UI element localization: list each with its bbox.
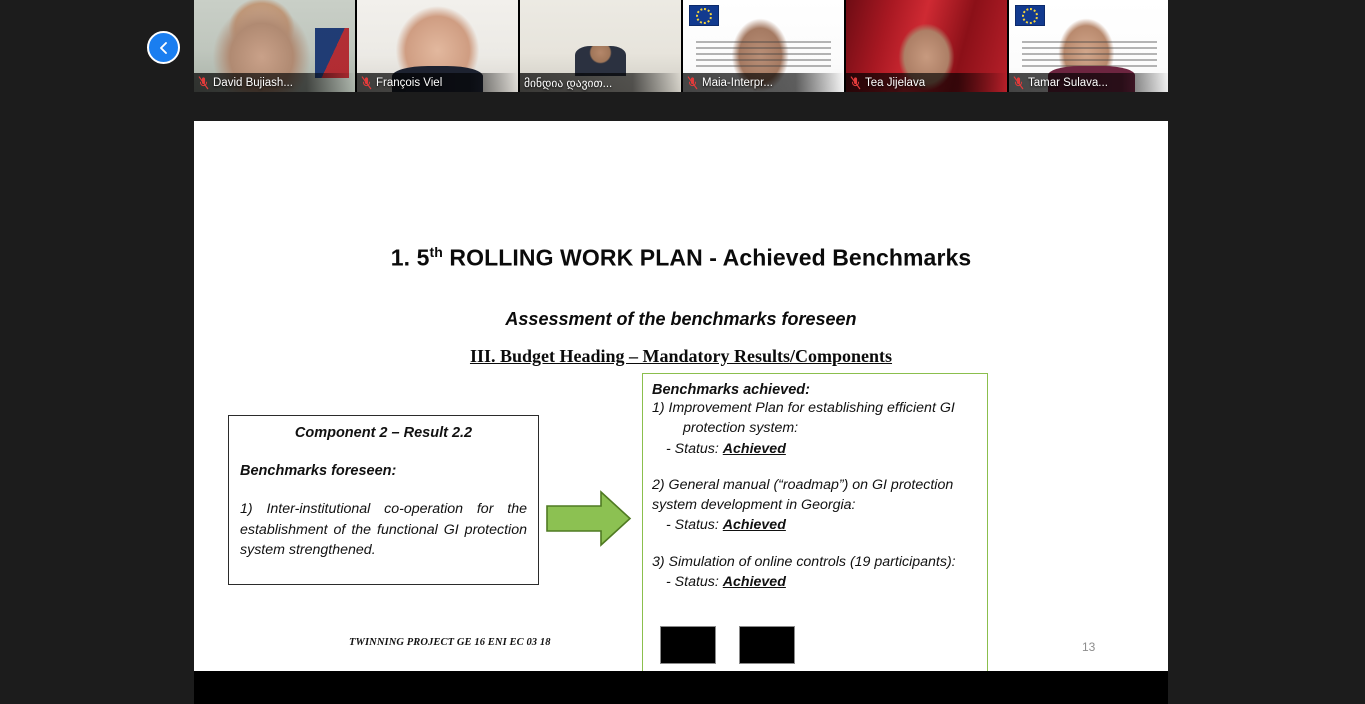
participant-name: David Bujiash... (213, 77, 293, 89)
participant-name: Tea Jijelava (865, 77, 925, 89)
participant-thumbnail-strip[interactable]: David Bujiash... François Viel მინდია და… (194, 0, 1168, 92)
slide-section-heading: III. Budget Heading – Mandatory Results/… (194, 346, 1168, 367)
eu-flag-icon (689, 5, 719, 26)
slide-title-prefix: 1. 5 (391, 245, 430, 271)
participant-name: Tamar Sulava... (1028, 77, 1108, 89)
microphone-muted-icon (198, 76, 209, 90)
microphone-muted-icon (687, 76, 698, 90)
participant-name: მინდია დავით... (524, 76, 612, 90)
component-result-title: Component 2 – Result 2.2 (240, 425, 527, 441)
eu-flag-icon (1015, 5, 1045, 26)
participant-name-bar: François Viel (357, 73, 518, 92)
achieved-item-status: - Status: Achieved (652, 515, 979, 535)
participant-name-bar: Tamar Sulava... (1009, 73, 1168, 92)
participant-thumbnail[interactable]: Tamar Sulava... (1009, 0, 1168, 92)
slide-background-text (1022, 41, 1157, 67)
participant-name-bar: მინდია დავით... (520, 73, 681, 92)
spacer (652, 459, 979, 475)
benchmarks-achieved-label: Benchmarks achieved: (652, 382, 979, 398)
achieved-item-status: - Status: Achieved (652, 439, 979, 459)
slide-section-heading-text: III. Budget Heading – Mandatory Results/… (470, 346, 892, 366)
app-root: David Bujiash... François Viel მინდია და… (0, 0, 1365, 704)
participant-thumbnail[interactable]: მინდია დავით... (520, 0, 681, 92)
microphone-muted-icon (1013, 76, 1024, 90)
participant-thumbnail[interactable]: Maia-Interpr... (683, 0, 844, 92)
participant-name-bar: Maia-Interpr... (683, 73, 844, 92)
back-button[interactable] (147, 31, 180, 64)
status-badge: Achieved (723, 517, 786, 533)
status-label: - Status: (666, 517, 723, 533)
participant-thumbnail[interactable]: David Bujiash... (194, 0, 355, 92)
status-label: - Status: (666, 441, 723, 457)
chevron-left-icon (157, 41, 171, 55)
slide-title-rest: ROLLING WORK PLAN - Achieved Benchmarks (443, 245, 971, 271)
shared-slide[interactable]: 1. 5th ROLLING WORK PLAN - Achieved Benc… (194, 121, 1168, 671)
achieved-item-status: - Status: Achieved (652, 572, 979, 592)
participant-name: Maia-Interpr... (702, 77, 773, 89)
achieved-item-text: 3) Simulation of online controls (19 par… (652, 552, 979, 572)
slide-title: 1. 5th ROLLING WORK PLAN - Achieved Benc… (194, 244, 1168, 272)
achieved-item-text: 2) General manual (“roadmap”) on GI prot… (652, 475, 979, 516)
participant-name: François Viel (376, 77, 442, 89)
status-label: - Status: (666, 574, 723, 590)
slide-title-superscript: th (429, 244, 442, 260)
slide-footer-note: TWINNING PROJECT GE 16 ENI EC 03 18 (349, 637, 551, 648)
participant-thumbnail[interactable]: Tea Jijelava (846, 0, 1007, 92)
slide-subtitle: Assessment of the benchmarks foreseen (194, 309, 1168, 330)
microphone-muted-icon (850, 76, 861, 90)
benchmarks-foreseen-box: Component 2 – Result 2.2 Benchmarks fore… (228, 415, 539, 585)
slide-page-number: 13 (1082, 640, 1095, 654)
benchmarks-foreseen-text: 1) Inter-institutional co-operation for … (240, 499, 527, 561)
bottom-black-band (194, 671, 1168, 704)
redacted-logo (660, 626, 716, 664)
achieved-item-text: 1) Improvement Plan for establishing eff… (652, 398, 979, 439)
participant-thumbnail[interactable]: François Viel (357, 0, 518, 92)
participant-name-bar: David Bujiash... (194, 73, 355, 92)
spacer (652, 536, 979, 552)
status-badge: Achieved (723, 574, 786, 590)
participant-name-bar: Tea Jijelava (846, 73, 1007, 92)
microphone-muted-icon (361, 76, 372, 90)
right-arrow-icon (546, 490, 632, 547)
benchmarks-foreseen-label: Benchmarks foreseen: (240, 463, 527, 479)
status-badge: Achieved (723, 441, 786, 457)
redacted-logo (739, 626, 795, 664)
slide-background-text (696, 41, 831, 67)
